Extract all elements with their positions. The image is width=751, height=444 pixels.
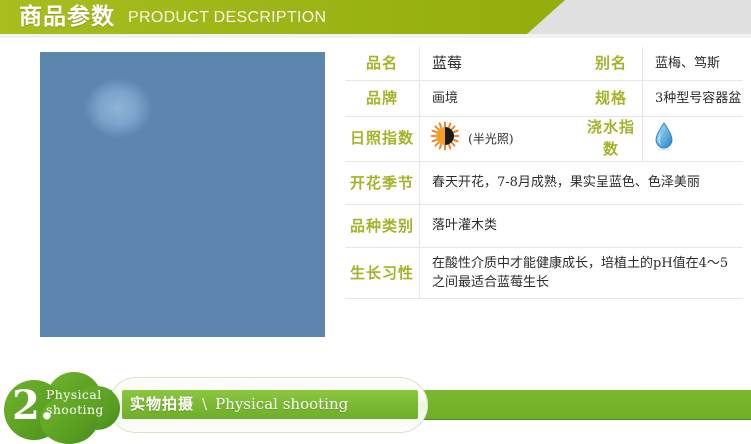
page-title-cn: 商品参数	[19, 1, 115, 33]
table-row: 品种类别 落叶灌木类	[345, 205, 743, 248]
spec-label-sunlight-index-text: 日照指数	[350, 129, 414, 147]
half-sun-icon	[430, 121, 460, 158]
sunlight-note: (半光照)	[468, 132, 513, 146]
spec-label-variety-type: 品种类别	[345, 205, 420, 248]
section-number-badge: 2. Physical shooting	[2, 370, 132, 444]
table-row: 日照指数	[345, 117, 743, 162]
section-banner: 实物拍摄\Physical shooting 2. Physical shoot…	[0, 370, 751, 444]
table-row: 品名 蓝莓 别名 蓝梅、笃斯	[345, 47, 743, 81]
page-header: 商品参数 PRODUCT DESCRIPTION	[0, 0, 751, 34]
banner-title-en: Physical shooting	[215, 395, 348, 413]
spec-value-brand: 画境	[420, 81, 581, 117]
spec-label-alias: 别名	[580, 47, 643, 81]
badge-label-line2: shooting	[46, 402, 104, 417]
spec-value-variety-type: 落叶灌木类	[420, 205, 744, 248]
badge-label-line1: Physical	[46, 387, 104, 402]
water-drop-icon	[653, 121, 675, 158]
table-row: 生长习性 在酸性介质中才能健康成长，培植土的pH值在4～5之间最适合蓝莓生长	[345, 248, 743, 299]
header-divider-2	[0, 38, 751, 40]
spec-value-product-name: 蓝莓	[420, 47, 581, 81]
table-row: 开花季节 春天开花，7-8月成熟，果实呈蓝色、色泽美丽	[345, 162, 743, 205]
spec-value-specification: 3种型号容器盆	[643, 81, 744, 117]
spec-value-growth-habit: 在酸性介质中才能健康成长，培植土的pH值在4～5之间最适合蓝莓生长	[420, 248, 744, 299]
badge-label-en: Physical shooting	[46, 387, 104, 417]
spec-label-brand: 品牌	[345, 81, 420, 117]
spec-value-flowering-season: 春天开花，7-8月成熟，果实呈蓝色、色泽美丽	[420, 162, 744, 205]
spec-label-sunlight-index: 日照指数	[345, 117, 420, 162]
spec-label-product-name: 品名	[345, 47, 420, 81]
spec-label-flowering-season: 开花季节	[345, 162, 420, 205]
spec-value-sunlight-index: (半光照)	[420, 117, 581, 162]
page-title-en: PRODUCT DESCRIPTION	[128, 6, 326, 30]
spec-label-watering-index-text: 浇水指数	[587, 118, 635, 158]
spec-value-watering-index	[643, 117, 744, 162]
banner-title: 实物拍摄\Physical shooting	[130, 390, 430, 419]
spec-table: 品名 蓝莓 别名 蓝梅、笃斯 品牌 画境 规格 3种型号容器盆 日照指数	[345, 47, 743, 299]
table-row: 品牌 画境 规格 3种型号容器盆	[345, 81, 743, 117]
spec-label-watering-index: 浇水指数	[580, 117, 643, 162]
spec-label-growth-habit: 生长习性	[345, 248, 420, 299]
product-photo	[40, 52, 325, 337]
spec-label-specification: 规格	[580, 81, 643, 117]
blueberry-photo-image	[40, 52, 325, 337]
spec-value-alias: 蓝梅、笃斯	[643, 47, 744, 81]
banner-separator: \	[202, 395, 207, 413]
banner-title-cn: 实物拍摄	[130, 395, 194, 413]
